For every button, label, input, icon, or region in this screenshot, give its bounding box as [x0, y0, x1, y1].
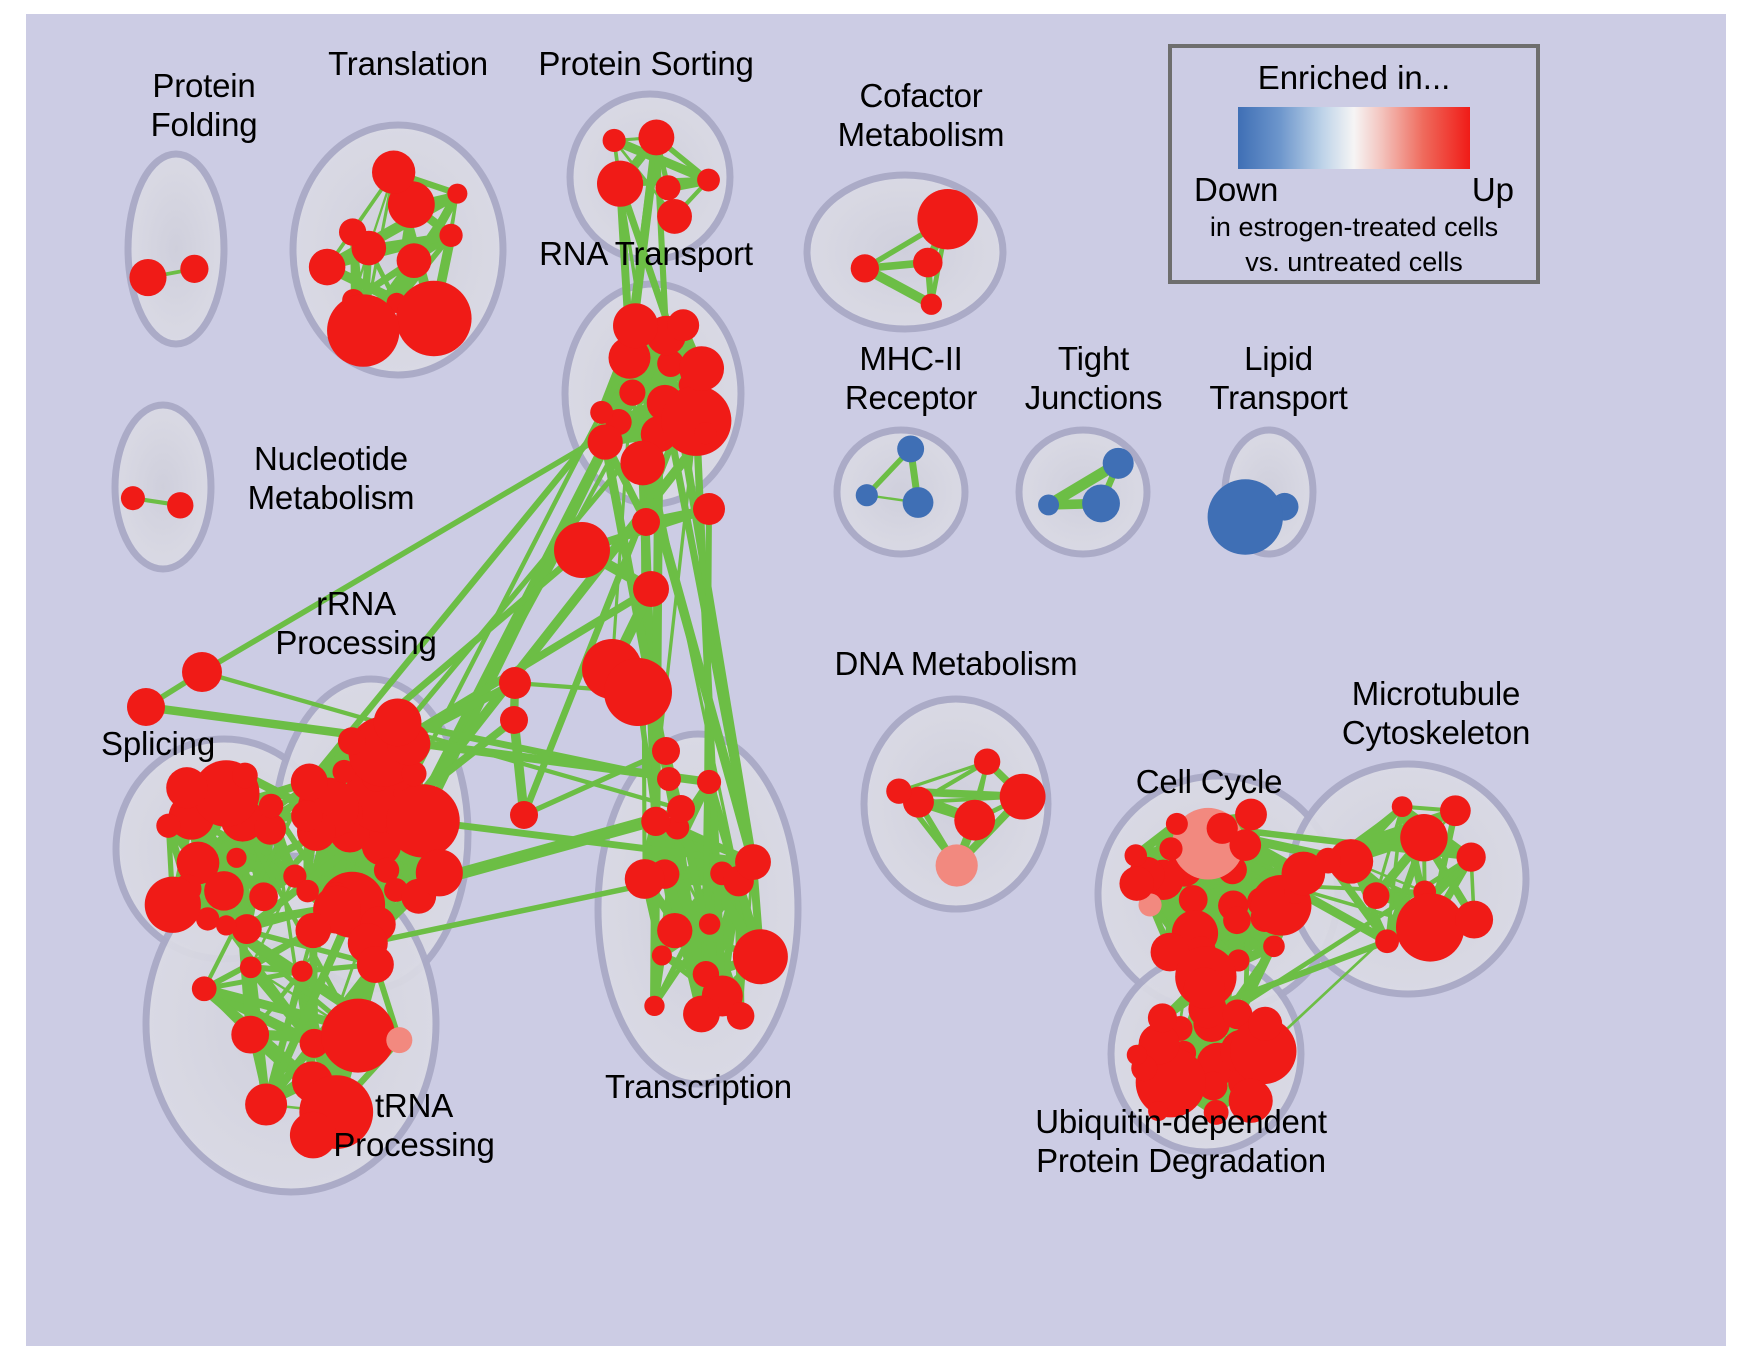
network-node[interactable] — [657, 913, 692, 948]
network-node[interactable] — [216, 915, 236, 935]
network-node[interactable] — [856, 484, 878, 506]
network-node[interactable] — [652, 945, 672, 965]
cluster-label-protein-folding: Protein Folding — [104, 66, 304, 144]
network-node[interactable] — [1148, 1003, 1177, 1032]
network-node[interactable] — [661, 386, 731, 456]
network-node[interactable] — [226, 848, 246, 868]
cluster-label-cofactor-metabolism: Cofactor Metabolism — [806, 76, 1036, 154]
network-node[interactable] — [625, 859, 665, 899]
network-node[interactable] — [1223, 906, 1251, 934]
network-node[interactable] — [1038, 494, 1059, 515]
network-node[interactable] — [232, 914, 262, 944]
network-node[interactable] — [309, 249, 346, 286]
network-node[interactable] — [590, 401, 613, 424]
network-node[interactable] — [1392, 796, 1413, 817]
cluster-hull — [807, 175, 1003, 329]
network-canvas: Protein FoldingTranslationProtein Sortin… — [26, 14, 1726, 1346]
legend-box: Enriched in... Down Up in estrogen-treat… — [1168, 44, 1540, 284]
cluster-hull — [128, 154, 224, 344]
network-node[interactable] — [954, 800, 995, 841]
network-node[interactable] — [921, 294, 942, 315]
network-node[interactable] — [145, 877, 201, 933]
network-node[interactable] — [439, 224, 462, 247]
network-node[interactable] — [182, 652, 222, 692]
network-node[interactable] — [886, 778, 911, 803]
network-node[interactable] — [339, 218, 366, 245]
cluster-label-trna-processing: tRNA Processing — [314, 1086, 514, 1164]
network-node[interactable] — [1207, 813, 1238, 844]
legend-title: Enriched in... — [1172, 59, 1536, 97]
network-node[interactable] — [510, 801, 538, 829]
network-node[interactable] — [295, 913, 330, 948]
network-node[interactable] — [903, 487, 934, 518]
network-node[interactable] — [613, 303, 658, 348]
network-node[interactable] — [1208, 479, 1283, 554]
network-node[interactable] — [240, 956, 262, 978]
network-node[interactable] — [1440, 795, 1471, 826]
network-node[interactable] — [121, 486, 145, 510]
network-node[interactable] — [166, 767, 207, 808]
legend-subtitle-line1: in estrogen-treated cells — [1172, 211, 1536, 244]
network-node[interactable] — [638, 120, 674, 156]
network-node[interactable] — [1315, 848, 1341, 874]
network-node[interactable] — [245, 1084, 287, 1126]
network-node[interactable] — [338, 727, 366, 755]
network-node[interactable] — [657, 767, 681, 791]
network-node[interactable] — [249, 882, 278, 911]
network-node[interactable] — [1103, 448, 1134, 479]
network-node[interactable] — [693, 493, 725, 525]
network-node[interactable] — [699, 913, 720, 934]
cluster-label-microtubule-cytoskeleton: Microtubule Cytoskeleton — [1316, 674, 1556, 752]
network-node[interactable] — [620, 441, 665, 486]
cluster-label-cell-cycle: Cell Cycle — [1114, 762, 1304, 801]
network-node[interactable] — [499, 667, 531, 699]
network-node[interactable] — [974, 749, 1000, 775]
network-node[interactable] — [1455, 901, 1493, 939]
network-node[interactable] — [554, 522, 610, 578]
network-node[interactable] — [851, 254, 879, 282]
network-node[interactable] — [259, 794, 283, 818]
network-node[interactable] — [321, 999, 395, 1073]
network-node[interactable] — [232, 763, 258, 789]
cluster-label-translation: Translation — [298, 44, 518, 83]
network-node[interactable] — [1125, 844, 1147, 866]
network-node[interactable] — [697, 770, 721, 794]
network-node[interactable] — [386, 784, 459, 857]
network-node[interactable] — [633, 571, 669, 607]
network-node[interactable] — [292, 961, 313, 982]
legend-high-label: Up — [1472, 171, 1514, 209]
network-node[interactable] — [396, 281, 471, 356]
network-node[interactable] — [913, 248, 943, 278]
network-node[interactable] — [1248, 1007, 1282, 1041]
network-node[interactable] — [1000, 774, 1046, 820]
network-node[interactable] — [655, 175, 680, 200]
network-node[interactable] — [291, 764, 328, 801]
network-node[interactable] — [1184, 968, 1225, 1009]
network-node[interactable] — [500, 706, 528, 734]
network-node[interactable] — [1400, 814, 1447, 861]
network-node[interactable] — [1166, 813, 1188, 835]
legend-color-bar — [1238, 107, 1470, 169]
network-node[interactable] — [697, 169, 720, 192]
network-node[interactable] — [296, 880, 319, 903]
network-node[interactable] — [180, 255, 208, 283]
cluster-label-nucleotide-metabolism: Nucleotide Metabolism — [216, 439, 446, 517]
network-node[interactable] — [1119, 866, 1154, 901]
network-node[interactable] — [1159, 837, 1182, 860]
network-node[interactable] — [683, 996, 720, 1033]
network-node[interactable] — [357, 946, 394, 983]
cluster-label-transcription: Transcription — [581, 1067, 816, 1106]
network-node[interactable] — [588, 424, 623, 459]
network-node[interactable] — [192, 976, 217, 1001]
network-node[interactable] — [386, 1027, 412, 1053]
network-node[interactable] — [231, 1016, 269, 1054]
network-node[interactable] — [1235, 799, 1267, 831]
network-node[interactable] — [1396, 893, 1464, 961]
network-node[interactable] — [1127, 1045, 1147, 1065]
network-node[interactable] — [129, 259, 166, 296]
network-node[interactable] — [679, 346, 724, 391]
network-node[interactable] — [416, 849, 463, 896]
network-node[interactable] — [632, 508, 660, 536]
network-node[interactable] — [1375, 929, 1399, 953]
network-node[interactable] — [733, 929, 788, 984]
network-node[interactable] — [372, 151, 415, 194]
network-node[interactable] — [604, 658, 672, 726]
network-node[interactable] — [167, 492, 193, 518]
network-node[interactable] — [397, 243, 432, 278]
network-node[interactable] — [603, 129, 626, 152]
network-node[interactable] — [1082, 485, 1120, 523]
network-node[interactable] — [936, 844, 978, 886]
legend-low-label: Down — [1194, 171, 1278, 209]
network-node[interactable] — [641, 807, 670, 836]
cluster-label-dna-metabolism: DNA Metabolism — [821, 644, 1091, 683]
network-node[interactable] — [204, 871, 244, 911]
network-node[interactable] — [1179, 885, 1208, 914]
network-node[interactable] — [374, 698, 422, 746]
cluster-label-mhc-ii-receptor: MHC-II Receptor — [816, 339, 1006, 417]
cluster-label-ubiquitin-degradation: Ubiquitin-dependent Protein Degradation — [1001, 1102, 1361, 1180]
network-node[interactable] — [652, 737, 680, 765]
network-node[interactable] — [644, 996, 664, 1016]
network-node[interactable] — [897, 435, 924, 462]
network-node[interactable] — [917, 189, 978, 250]
network-node[interactable] — [619, 380, 645, 406]
network-node[interactable] — [327, 294, 399, 366]
network-node[interactable] — [694, 422, 716, 444]
network-node[interactable] — [727, 1002, 755, 1030]
cluster-label-protein-sorting: Protein Sorting — [516, 44, 776, 83]
network-node[interactable] — [1456, 843, 1485, 872]
network-node[interactable] — [735, 844, 771, 880]
network-node[interactable] — [667, 795, 695, 823]
cluster-label-tight-junctions: Tight Junctions — [1001, 339, 1186, 417]
network-node[interactable] — [597, 161, 643, 207]
cluster-label-rna-transport: RNA Transport — [516, 234, 776, 273]
cluster-hull — [1019, 430, 1147, 554]
network-node[interactable] — [667, 309, 699, 341]
cluster-label-splicing: Splicing — [78, 724, 238, 763]
network-node[interactable] — [291, 800, 322, 831]
legend-subtitle-line2: vs. untreated cells — [1172, 246, 1536, 279]
figure-root: Protein FoldingTranslationProtein Sortin… — [0, 0, 1750, 1360]
network-node[interactable] — [657, 199, 692, 234]
cluster-label-lipid-transport: Lipid Transport — [1186, 339, 1371, 417]
network-node[interactable] — [1263, 935, 1285, 957]
network-node[interactable] — [127, 688, 165, 726]
network-edge — [706, 509, 709, 974]
network-node[interactable] — [156, 814, 180, 838]
cluster-label-rrna-processing: rRNA Processing — [256, 584, 456, 662]
network-edge — [514, 720, 524, 815]
network-node[interactable] — [447, 184, 467, 204]
network-node[interactable] — [1363, 882, 1390, 909]
